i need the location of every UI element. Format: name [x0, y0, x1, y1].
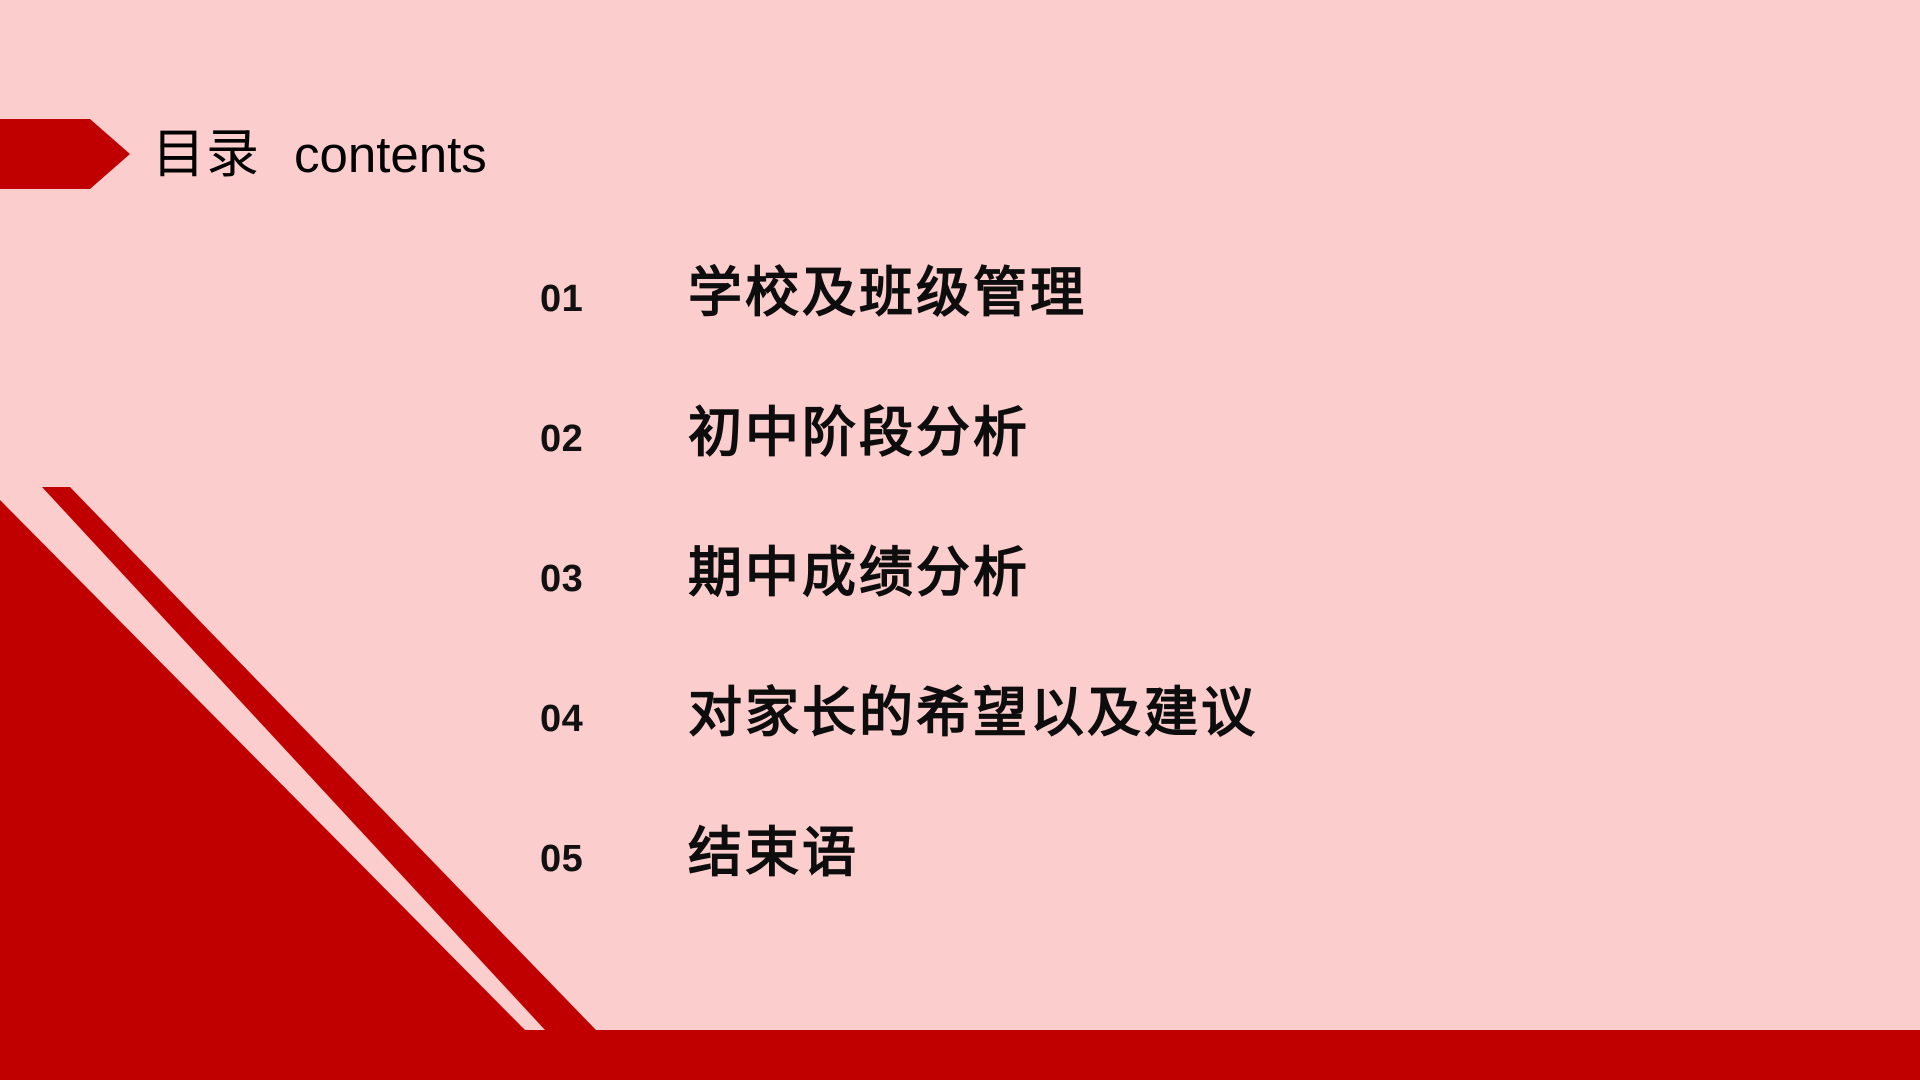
red-footer-bar: [0, 1030, 1920, 1080]
slide-header: 目录 contents: [0, 118, 487, 190]
contents-item-03[interactable]: 03 期中成绩分析: [540, 528, 1740, 668]
slide-canvas: 目录 contents 01 学校及班级管理 02 初中阶段分析 03 期中成绩…: [0, 0, 1920, 1080]
red-diagonal-stripe: [42, 487, 596, 1030]
contents-item-label: 对家长的希望以及建议: [688, 668, 1258, 747]
arrow-banner-icon: [0, 119, 130, 189]
contents-item-label: 期中成绩分析: [688, 528, 1030, 607]
red-diagonal-triangle: [0, 500, 525, 1030]
page-title-cn: 目录: [152, 128, 260, 181]
contents-item-01[interactable]: 01 学校及班级管理: [540, 248, 1740, 388]
contents-list: 01 学校及班级管理 02 初中阶段分析 03 期中成绩分析 04 对家长的希望…: [540, 248, 1740, 948]
page-title-en: contents: [294, 129, 487, 180]
header-title-group: 目录 contents: [152, 128, 487, 181]
contents-item-number: 02: [540, 418, 688, 461]
contents-item-number: 05: [540, 838, 688, 881]
contents-item-label: 学校及班级管理: [688, 248, 1087, 327]
contents-item-label: 结束语: [688, 808, 859, 887]
contents-item-number: 01: [540, 278, 688, 321]
contents-item-05[interactable]: 05 结束语: [540, 808, 1740, 948]
contents-item-label: 初中阶段分析: [688, 388, 1030, 467]
contents-item-04[interactable]: 04 对家长的希望以及建议: [540, 668, 1740, 808]
contents-item-number: 04: [540, 698, 688, 741]
contents-item-02[interactable]: 02 初中阶段分析: [540, 388, 1740, 528]
contents-item-number: 03: [540, 558, 688, 601]
